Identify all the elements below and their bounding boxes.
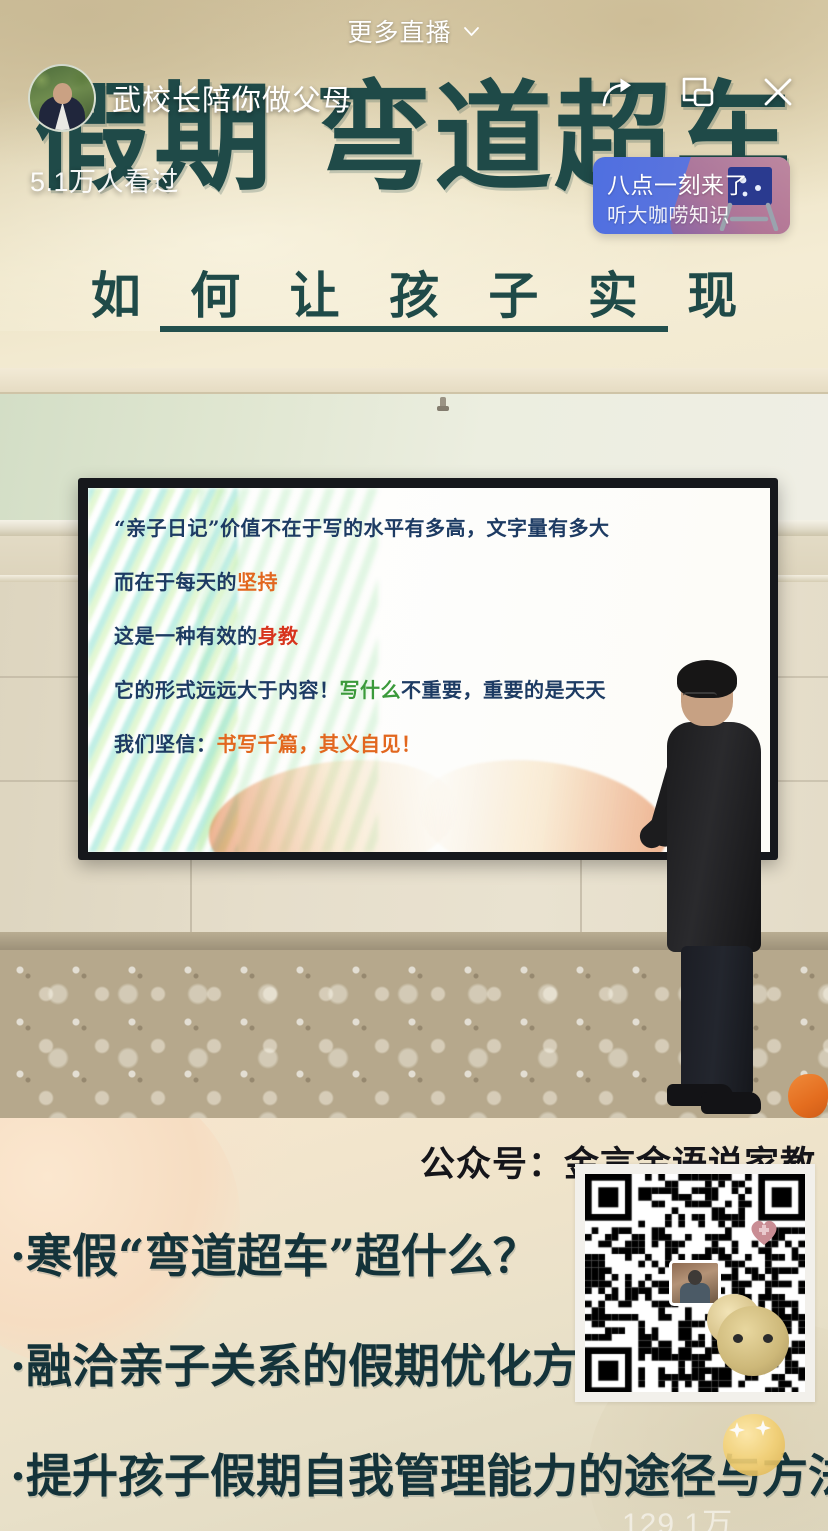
close-icon — [758, 72, 798, 112]
ceiling — [0, 368, 828, 394]
slide-line-highlight: 书写千篇，其义自见！ — [217, 732, 422, 756]
orange-object — [788, 1074, 828, 1118]
slide-line: 而在于每天的坚持 — [114, 566, 750, 595]
slide-line: “亲子日记”价值不在于写的水平有多高，文字量有多大 — [114, 512, 750, 541]
live-video-area[interactable]: “亲子日记”价值不在于写的水平有多高，文字量有多大 而在于每天的坚持 这是一种有… — [0, 368, 828, 1118]
presenter-torso — [667, 722, 761, 952]
sprinkler-head — [437, 397, 449, 414]
slide-line-pre: 而在于每天的 — [114, 570, 237, 594]
presenter-glasses — [683, 692, 717, 701]
presenter-figure — [655, 640, 783, 1118]
promo-line-1: 八点一刻来了 — [607, 166, 748, 200]
poster-subtitle: 如 何 让 孩 子 实 现 — [0, 256, 828, 328]
chevron-down-icon — [462, 22, 481, 41]
qr-code[interactable] — [585, 1174, 805, 1392]
slide-line-pre: 它的形式远远大于内容！ — [114, 678, 340, 702]
poster-underline — [160, 326, 668, 332]
bottom-view-count: 129.1万 — [622, 1499, 733, 1531]
presenter-shoe — [701, 1092, 761, 1114]
avatar[interactable] — [28, 64, 96, 132]
slide-line-pre: “亲子日记”价值不在于写的水平有多高，文字量有多大 — [114, 516, 610, 540]
qr-photo-body — [680, 1283, 710, 1303]
sparkle-icon — [755, 1420, 771, 1436]
live-stream-screen: 假期弯道超车 如 何 让 孩 子 实 现 更多直播 武校长陪你做父母 5.1万人… — [0, 0, 828, 1531]
channel-header[interactable]: 武校长陪你做父母 — [28, 64, 352, 132]
promo-line-2: 听大咖唠知识 — [607, 199, 730, 228]
viewer-count: 5.1万人看过 — [30, 160, 179, 199]
more-live-button[interactable]: 更多直播 — [347, 13, 480, 49]
bullet-item: ·提升孩子假期自我管理能力的途径与方法。 — [0, 1440, 828, 1506]
qr-code-card[interactable] — [575, 1164, 815, 1402]
gold-badge-icon — [723, 1414, 785, 1476]
slide-line-highlight: 身教 — [258, 624, 299, 648]
presenter-legs — [681, 946, 753, 1094]
slide-line-post: 不重要，重要的是天天 — [401, 678, 606, 702]
sparkle-icon — [729, 1422, 745, 1438]
heart-sticker-icon — [749, 1218, 779, 1246]
qr-center-photo — [669, 1260, 721, 1306]
top-action-bar — [596, 70, 800, 114]
mini-window-icon — [678, 72, 718, 112]
slide-line-highlight: 坚持 — [237, 570, 278, 594]
share-arrow-icon — [598, 72, 638, 112]
picture-in-picture-button[interactable] — [676, 70, 720, 114]
promo-badge[interactable]: 八点一刻来了 听大咖唠知识 — [593, 157, 790, 234]
close-button[interactable] — [756, 70, 800, 114]
slide-line-pre: 这是一种有效的 — [114, 624, 258, 648]
emoji-sticker — [717, 1306, 789, 1376]
avatar-person-head — [53, 83, 72, 104]
share-button[interactable] — [596, 70, 640, 114]
top-navigation-bar: 更多直播 — [0, 0, 828, 62]
slide-line-highlight: 写什么 — [340, 678, 402, 702]
slide-line-pre: 我们坚信： — [114, 732, 217, 756]
channel-name: 武校长陪你做父母 — [112, 77, 352, 119]
qr-photo-head — [688, 1270, 702, 1285]
more-live-label: 更多直播 — [347, 13, 451, 49]
